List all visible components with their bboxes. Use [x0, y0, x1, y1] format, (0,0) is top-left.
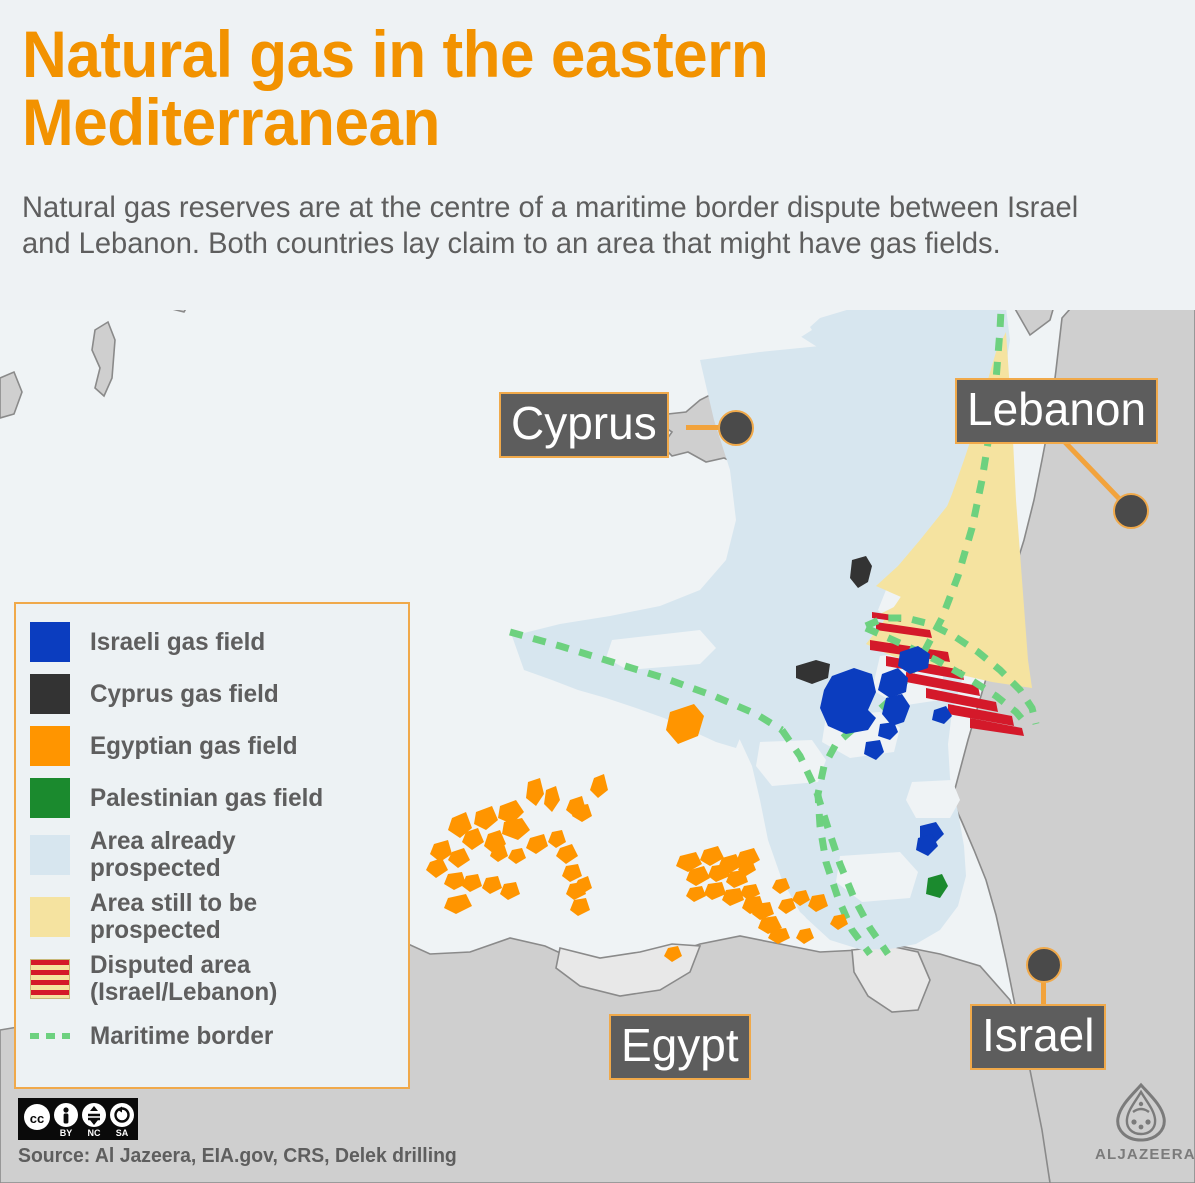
legend-label-palestinian: Palestinian gas field: [90, 784, 323, 812]
cc-license-icon: cc BY NC SA: [18, 1098, 138, 1140]
legend-label-to-prospect: Area still to be prospected: [90, 890, 333, 944]
legend-swatch-disputed: [30, 959, 70, 999]
legend-label-disputed: Disputed area (Israel/Lebanon): [90, 952, 362, 1006]
aljazeera-logo: ALJAZEERA: [1095, 1082, 1187, 1163]
legend-swatch-cyprus: [30, 674, 70, 714]
israel-marker-dot: [1026, 947, 1062, 983]
aljazeera-wordmark: ALJAZEERA: [1095, 1146, 1187, 1163]
legend-swatch-israeli: [30, 622, 70, 662]
legend-swatch-prospected: [30, 835, 70, 875]
aljazeera-mark-icon: [1106, 1082, 1176, 1144]
lebanon-marker-dot: [1113, 493, 1149, 529]
legend-item-egyptian-gas-field[interactable]: Egyptian gas field: [30, 720, 408, 772]
legend-item-maritime-border[interactable]: Maritime border: [30, 1010, 408, 1062]
legend-label-israeli: Israeli gas field: [90, 628, 265, 656]
infographic-canvas: Natural gas in the eastern Mediterranean…: [0, 0, 1195, 1183]
legend-label-cyprus: Cyprus gas field: [90, 680, 279, 708]
svg-text:BY: BY: [60, 1128, 73, 1138]
country-label-israel[interactable]: Israel: [970, 1004, 1106, 1070]
legend-item-area-to-prospect[interactable]: Area still to be prospected: [30, 886, 408, 948]
legend-panel: Israeli gas field Cyprus gas field Egypt…: [14, 602, 410, 1089]
svg-text:SA: SA: [116, 1128, 129, 1138]
svg-text:cc: cc: [30, 1111, 44, 1126]
country-label-egypt[interactable]: Egypt: [609, 1014, 751, 1080]
creative-commons-badge[interactable]: cc BY NC SA: [18, 1098, 138, 1145]
cyprus-marker-dot: [718, 410, 754, 446]
legend-label-prospected: Area already prospected: [90, 828, 333, 882]
svg-text:NC: NC: [88, 1128, 101, 1138]
country-label-lebanon[interactable]: Lebanon: [955, 378, 1158, 444]
legend-item-israeli-gas-field[interactable]: Israeli gas field: [30, 616, 408, 668]
pocket-4: [756, 740, 826, 786]
legend-item-disputed-area[interactable]: Disputed area (Israel/Lebanon): [30, 948, 408, 1010]
legend-label-maritime-border: Maritime border: [90, 1022, 273, 1050]
country-label-cyprus[interactable]: Cyprus: [499, 392, 669, 458]
legend-list: Israeli gas field Cyprus gas field Egypt…: [16, 604, 408, 1062]
pocket-5: [906, 780, 960, 818]
legend-swatch-egyptian: [30, 726, 70, 766]
legend-swatch-to-prospect: [30, 897, 70, 937]
legend-item-area-prospected[interactable]: Area already prospected: [30, 824, 408, 886]
source-credit: Source: Al Jazeera, EIA.gov, CRS, Delek …: [18, 1145, 457, 1168]
legend-swatch-palestinian: [30, 778, 70, 818]
legend-swatch-maritime-border: [30, 1016, 70, 1056]
legend-label-egyptian: Egyptian gas field: [90, 732, 298, 760]
legend-item-cyprus-gas-field[interactable]: Cyprus gas field: [30, 668, 408, 720]
legend-item-palestinian-gas-field[interactable]: Palestinian gas field: [30, 772, 408, 824]
